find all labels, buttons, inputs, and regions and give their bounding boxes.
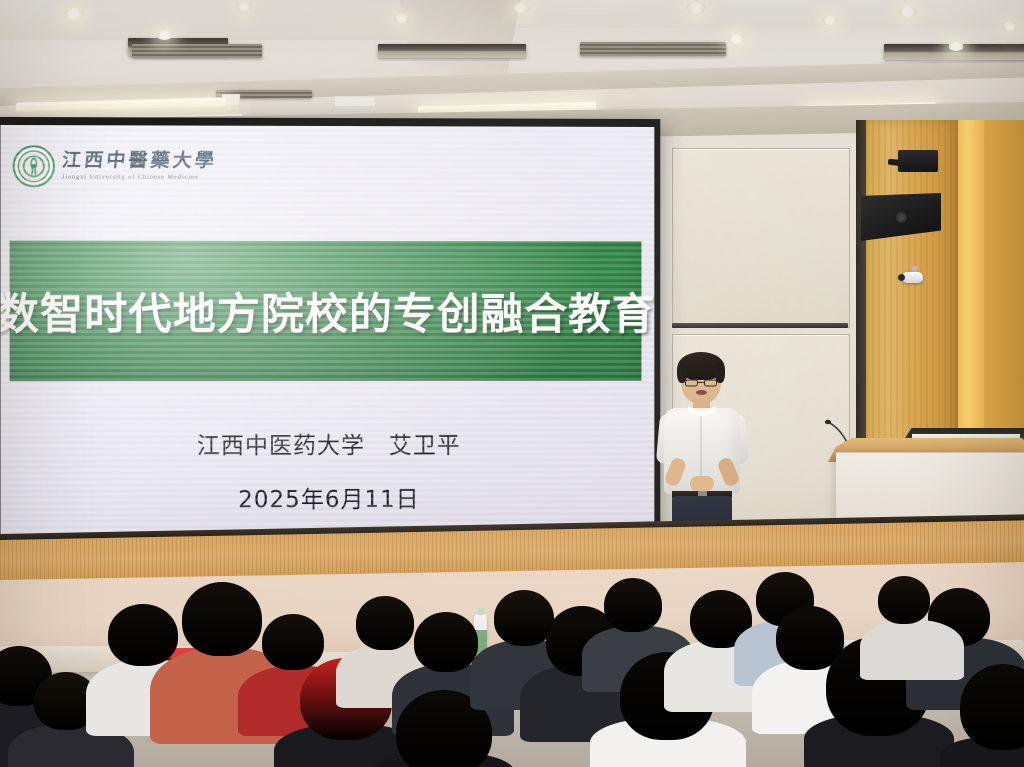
slide-subtitle-block: 江西中医药大学 艾卫平 2025年6月11日: [0, 426, 654, 515]
security-camera: [902, 272, 923, 283]
ceiling-panel: [334, 96, 376, 107]
audience-head: [494, 590, 554, 646]
speaker-driver-icon: [896, 212, 907, 223]
whiteboard-rail: [672, 323, 848, 328]
audience-head: [878, 576, 930, 624]
slide-date: 2025年6月11日: [0, 479, 654, 515]
logo-text: 江西中醫藥大學 Jiangxi University of Chinese Me…: [62, 152, 217, 182]
ceiling-air-vent: [132, 44, 262, 58]
ceiling-downlight: [1002, 22, 1017, 31]
audience-torso: [860, 620, 964, 680]
audience-head: [182, 582, 262, 656]
ceiling-downlight: [394, 14, 409, 23]
audience-head: [604, 578, 662, 632]
glasses-icon: [685, 374, 717, 382]
audience-head: [356, 596, 414, 650]
ceiling-downlight: [156, 30, 173, 40]
ceiling-air-vent: [580, 42, 726, 56]
university-logo: 江西中醫藥大學 Jiangxi University of Chinese Me…: [13, 145, 217, 188]
audience-head: [262, 614, 324, 670]
presenter-hands: [690, 476, 714, 491]
presenter-mouth: [696, 390, 707, 395]
audience-head: [108, 604, 178, 666]
ceiling-slab: [0, 0, 430, 40]
slide-title-banner: 数智时代地方院校的专创融合教育: [10, 241, 642, 382]
lecture-hall-photo: 江西中醫藥大學 Jiangxi University of Chinese Me…: [0, 0, 1024, 767]
slide-affiliation-and-author: 江西中医药大学 艾卫平: [0, 426, 654, 461]
ceiling-downlight: [728, 34, 745, 44]
ceiling-downlight: [686, 2, 706, 14]
ceiling-air-vent: [378, 44, 526, 58]
ceiling-downlight: [898, 6, 917, 17]
ceiling-downlight: [64, 8, 84, 20]
projection-screen-frame: 江西中醫藥大學 Jiangxi University of Chinese Me…: [0, 117, 660, 549]
camera-lens-icon: [898, 274, 905, 281]
whiteboard: [672, 148, 850, 328]
projection-screen: 江西中醫藥大學 Jiangxi University of Chinese Me…: [0, 125, 654, 539]
logo-english-name: Jiangxi University of Chinese Medicine: [62, 175, 217, 182]
slide-title: 数智时代地方院校的专创融合教育: [0, 280, 654, 342]
presentation-slide: 江西中醫藥大學 Jiangxi University of Chinese Me…: [0, 125, 654, 539]
logo-chinese-name: 江西中醫藥大學: [61, 152, 218, 171]
audience-head: [414, 612, 478, 672]
speaker-bracket: [898, 150, 938, 172]
university-seal-icon: [13, 145, 55, 187]
